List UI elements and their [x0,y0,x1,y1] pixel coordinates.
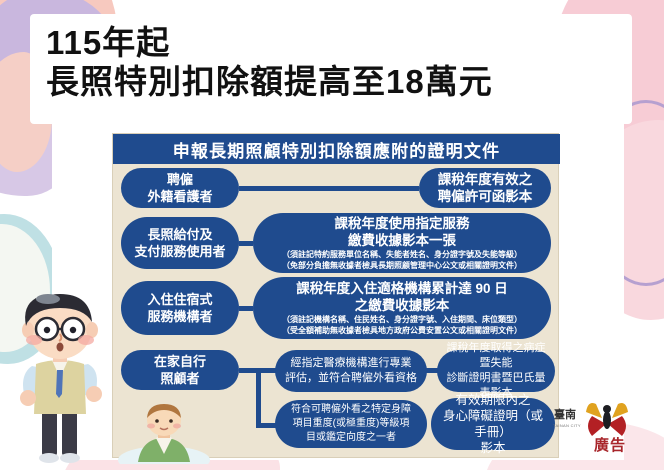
connector-bracket [256,368,261,428]
row-document-pill: 課稅年度取得之病症暨失能 診斷證明書暨巴氏量表影本 [437,350,555,392]
row-document-note-2: （免部分負擔無收據者檢具長期照顧管理中心公文或相關證明文件） [282,260,522,271]
row-document-line-1: 有效期限內之 [455,392,530,408]
row-document-line-1: 課稅年度入住適格機構累計達 90 日 [296,280,508,297]
row-category-line-1: 在家自行 [154,353,206,370]
row-document-line-2: 之繳費收據影本 [355,297,450,314]
row-category-pill: 入住住宿式 服務機構者 [121,281,239,335]
row-category-line-2: 照顧者 [160,370,199,387]
row-document-pill: 課稅年度使用指定服務 繳費收據影本一張 （須註記特約服務單位名稱、失能者姓名、身… [253,213,551,273]
advertisement-label: 廣告 [594,434,626,455]
row-category-line-2: 服務機構者 [147,308,212,325]
row-category-line-1: 入住住宿式 [147,291,212,308]
row-document-line-2: 聘僱許可函影本 [438,188,533,205]
row-category-pill: 在家自行 照顧者 [121,350,239,390]
row-category-pill: 長照給付及 支付服務使用者 [121,217,239,269]
row-document-line-2: 身心障礙證明（或手冊） [437,408,549,440]
page-title: 115年起 長照特別扣除額提高至18萬元 [46,24,646,102]
row-document-line-3: 影本 [480,440,505,456]
illustration-person [112,404,216,464]
row-document-note-1: （須註記特約服務單位名稱、失能者姓名、身分證字號及失能等級） [282,249,522,260]
row-category-line-2: 外籍看護者 [147,188,212,205]
illustration-man [6,286,114,466]
table-row: 聘僱 外籍看護者 課稅年度有效之 聘僱許可函影本 [113,166,560,210]
row-category-line-1: 長照給付及 [147,226,212,243]
connector-line [239,186,419,191]
row-condition-pill: 經指定醫療機構進行專業 評估，並符合聘僱外看資格 [275,350,427,392]
row-document-pill: 課稅年度入住適格機構累計達 90 日 之繳費收據影本 （須註記機構名稱、住民姓名… [253,277,551,339]
logo-city-name: 臺南 [554,410,576,421]
row-document-note-2: （受全額補助無收據者檢具地方政府公費安置公文或相關證明文件） [282,325,522,336]
row-document-line-2: 繳費收據影本一張 [348,232,456,249]
poster-root: 115年起 長照特別扣除額提高至18萬元 申報長期照顧特別扣除額應附的證明文件 … [0,0,664,470]
row-document-pill: 課稅年度有效之 聘僱許可函影本 [419,168,551,208]
tainan-city-logo: 臺南 TAINAN CITY 廣告 [552,398,648,456]
connector-line [239,241,253,246]
row-category-wrapper: 在家自行 照顧者 [121,350,239,390]
table-row: 長照給付及 支付服務使用者 課稅年度使用指定服務 繳費收據影本一張 （須註記特約… [113,212,560,274]
title-line-1: 115年起 [46,24,646,62]
logo-city-name-en: TAINAN CITY [553,423,581,428]
row-category-line-1: 聘僱 [167,171,193,188]
row-document-pill: 有效期限內之 身心障礙證明（或手冊） 影本 [431,398,555,450]
panel-header-title: 申報長期照顧特別扣除額應附的證明文件 [113,134,560,164]
row-condition-line-3: 目或鑑定向度之一者 [306,431,396,445]
row-condition-line-2: 項目重度(或極重度)等級項 [293,417,410,431]
row-condition-line-1: 經指定醫療機構進行專業 [291,356,412,371]
row-document-note-1: （須註記機構名稱、住民姓名、身分證字號、入住期間、床位類型） [282,314,522,325]
row-condition-pill: 符合可聘僱外看之特定身障 項目重度(或極重度)等級項 目或鑑定向度之一者 [275,400,427,448]
row-category-pill: 聘僱 外籍看護者 [121,168,239,208]
row-condition-line-2: 評估，並符合聘僱外看資格 [285,371,417,386]
row-category-line-2: 支付服務使用者 [134,243,225,260]
connector-line [239,306,253,311]
row-document-line-1: 課稅年度有效之 [438,171,533,188]
table-row: 入住住宿式 服務機構者 課稅年度入住適格機構累計達 90 日 之繳費收據影本 （… [113,276,560,340]
row-document-line-1: 課稅年度取得之病症暨失能 [443,341,549,371]
row-condition-line-1: 符合可聘僱外看之特定身障 [291,403,411,417]
title-line-2: 長照特別扣除額提高至18萬元 [46,62,646,102]
row-document-line-1: 課稅年度使用指定服務 [335,215,470,232]
